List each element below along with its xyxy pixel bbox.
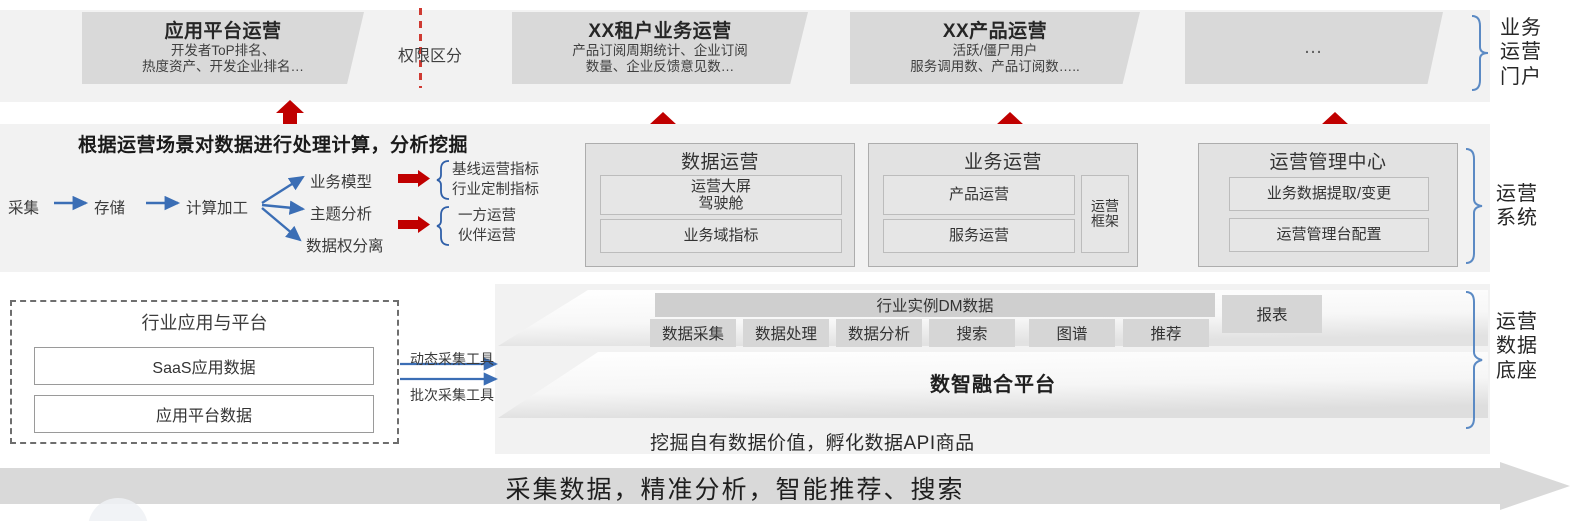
- capability-chip-recommend[interactable]: 推荐: [1123, 319, 1209, 347]
- industry-app-title: 行业应用与平台: [12, 309, 397, 335]
- base-layer-label: 运营 数据 底座: [1496, 310, 1538, 383]
- system-box-item-product-ops[interactable]: 产品运营: [883, 175, 1075, 215]
- portal-card-sub1: 产品订阅周期统计、企业订阅: [572, 43, 748, 59]
- portal-card-more[interactable]: …: [1185, 12, 1443, 84]
- system-box-item-data-extract[interactable]: 业务数据提取/变更: [1229, 177, 1429, 211]
- base-layer-label-l3: 底座: [1496, 359, 1538, 383]
- system-box-item-dashboard[interactable]: 运营大屏驾驶舱: [600, 175, 842, 215]
- portal-card-title: XX产品运营: [943, 21, 1047, 43]
- system-layer-label-l1: 运营: [1496, 182, 1538, 206]
- portal-card-sub1: 活跃/僵尸用户: [953, 43, 1038, 59]
- dm-data-bar: 行业实例DM数据: [655, 293, 1215, 317]
- industry-app-box: 行业应用与平台 SaaS应用数据 应用平台数据: [10, 300, 399, 444]
- capability-chip-report[interactable]: 报表: [1222, 295, 1322, 333]
- base-layer-label-l1: 运营: [1496, 310, 1538, 334]
- system-box-item-service-ops[interactable]: 服务运营: [883, 219, 1075, 253]
- industry-app-row-saas[interactable]: SaaS应用数据: [34, 347, 374, 385]
- portal-layer-label-l2: 运营: [1500, 40, 1542, 64]
- system-box-business-ops[interactable]: 业务运营 产品运营 服务运营 运营框架: [868, 143, 1138, 267]
- flow-output-baseline: 基线运营指标: [452, 161, 539, 179]
- portal-card-sub2: 热度资产、开发企业排名…: [142, 59, 304, 75]
- flow-brace-bottom: [436, 206, 452, 246]
- portal-card-app-platform[interactable]: 应用平台运营 开发者ToP排名、 热度资产、开发企业排名…: [82, 12, 364, 84]
- portal-layer-label: 业务 运营 门户: [1500, 16, 1542, 89]
- portal-brace: [1468, 14, 1490, 92]
- platform-tagline: 挖掘自有数据价值，孵化数据API商品: [650, 428, 975, 455]
- capability-chip-graph[interactable]: 图谱: [1029, 319, 1115, 347]
- right-arrow-icon-1: [398, 170, 430, 186]
- system-box-ops-mgmt-center[interactable]: 运营管理中心 业务数据提取/变更 运营管理台配置: [1198, 143, 1458, 267]
- collect-tool-dynamic-label: 动态采集工具: [410, 349, 494, 369]
- flow-output-industry: 行业定制指标: [452, 181, 539, 199]
- system-box-item-domain-metrics[interactable]: 业务域指标: [600, 219, 842, 253]
- bottom-banner-text: 采集数据，精准分析，智能推荐、搜索: [0, 470, 1470, 506]
- up-arrow-icon-1: [275, 100, 305, 126]
- platform-name-label: 数智融合平台: [930, 368, 1056, 397]
- portal-layer-label-l1: 业务: [1500, 16, 1542, 40]
- portal-card-title: XX租户业务运营: [588, 21, 731, 43]
- capability-chip-data-analysis[interactable]: 数据分析: [836, 319, 922, 347]
- system-layer-label: 运营 系统: [1496, 182, 1538, 231]
- system-box-item-ops-framework[interactable]: 运营框架: [1081, 175, 1129, 253]
- portal-card-sub1: 开发者ToP排名、: [171, 43, 275, 59]
- portal-card-tenant-business[interactable]: XX租户业务运营 产品订阅周期统计、企业订阅 数量、企业反馈意见数…: [512, 12, 808, 84]
- flow-output-partner: 伙伴运营: [458, 227, 516, 245]
- system-layer-label-l2: 系统: [1496, 206, 1538, 230]
- base-layer-label-l2: 数据: [1496, 334, 1538, 358]
- capability-chip-data-processing[interactable]: 数据处理: [743, 319, 829, 347]
- portal-card-sub2: 数量、企业反馈意见数…: [586, 59, 735, 75]
- architecture-diagram: 应用平台运营 开发者ToP排名、 热度资产、开发企业排名… XX租户业务运营 产…: [0, 0, 1595, 521]
- system-box-title: 运营管理中心: [1199, 147, 1457, 174]
- portal-card-ellipsis: …: [1304, 37, 1325, 59]
- system-box-data-ops[interactable]: 数据运营 运营大屏驾驶舱 业务域指标: [585, 143, 855, 267]
- portal-card-product-ops[interactable]: XX产品运营 活跃/僵尸用户 服务调用数、产品订阅数…..: [850, 12, 1140, 84]
- collect-tool-batch-label: 批次采集工具: [410, 385, 494, 405]
- flow-output-first-party: 一方运营: [458, 207, 516, 225]
- capability-chip-data-collection[interactable]: 数据采集: [650, 319, 736, 347]
- portal-card-sub2: 服务调用数、产品订阅数…..: [910, 59, 1080, 75]
- data-flow-diagram: 采集 存储 计算加工 业务模型 主题分析 数据权分离: [0, 150, 580, 270]
- base-brace: [1462, 290, 1484, 430]
- system-box-item-console-config[interactable]: 运营管理台配置: [1229, 218, 1429, 252]
- system-box-title: 业务运营: [869, 147, 1137, 174]
- capability-chip-search[interactable]: 搜索: [929, 319, 1015, 347]
- system-box-title: 数据运营: [586, 147, 854, 174]
- portal-layer-label-l3: 门户: [1500, 65, 1542, 89]
- portal-card-title: 应用平台运营: [164, 21, 281, 43]
- flow-brace-top: [436, 160, 452, 200]
- right-arrow-icon-2: [398, 216, 430, 232]
- industry-app-row-platform[interactable]: 应用平台数据: [34, 395, 374, 433]
- system-brace: [1462, 147, 1484, 265]
- permission-divider-label: 权限区分: [385, 42, 475, 66]
